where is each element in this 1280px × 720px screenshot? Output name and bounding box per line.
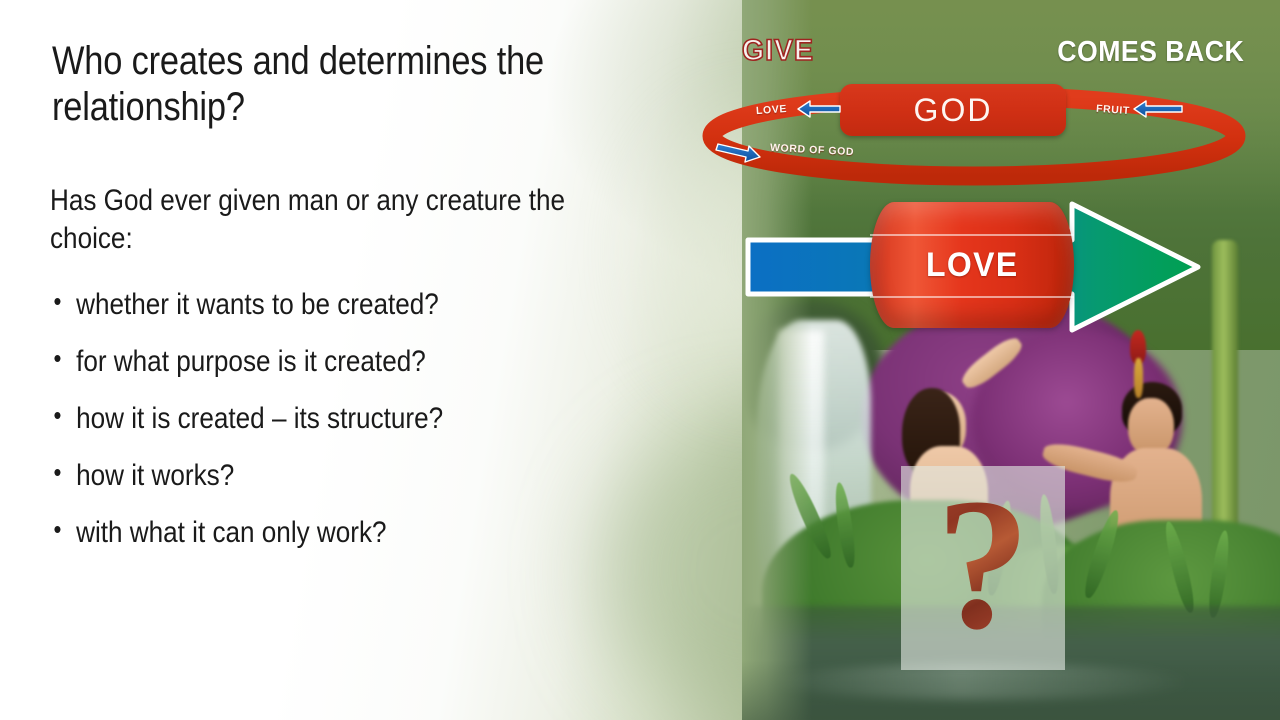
list-item: how it is created – its structure?	[50, 402, 659, 435]
love-arrow-icon	[798, 101, 840, 117]
give-label: GIVE	[742, 34, 814, 68]
page-title: Who creates and determines the relations…	[52, 38, 585, 131]
love-arrow-diagram: LOVE	[742, 196, 1204, 338]
question-mark-panel: ?	[901, 466, 1065, 670]
list-item: whether it wants to be created?	[50, 288, 659, 321]
photo-palm-trunk	[1212, 240, 1238, 540]
slide-canvas: Who creates and determines the relations…	[0, 0, 1280, 720]
fruit-arrow-icon	[1134, 101, 1182, 117]
ring-label-love: LOVE	[756, 103, 788, 117]
love-cylinder: LOVE	[870, 202, 1074, 328]
bullet-list: whether it wants to be created? for what…	[50, 288, 659, 573]
love-label: LOVE	[926, 246, 1019, 285]
comes-back-label: COMES BACK	[1057, 36, 1244, 69]
photo-parrot-tail	[1134, 358, 1143, 398]
cycle-ring-diagram: GOD LOVE WORD OF GOD F	[700, 78, 1248, 188]
list-item: with what it can only work?	[50, 516, 659, 549]
lead-question: Has God ever given man or any creature t…	[50, 182, 650, 258]
list-item: how it works?	[50, 459, 659, 492]
question-mark-icon: ?	[936, 470, 1030, 658]
word-of-god-arrow-icon	[716, 144, 760, 162]
list-item: for what purpose is it created?	[50, 345, 659, 378]
ring-label-fruit: FRUIT	[1096, 103, 1131, 117]
